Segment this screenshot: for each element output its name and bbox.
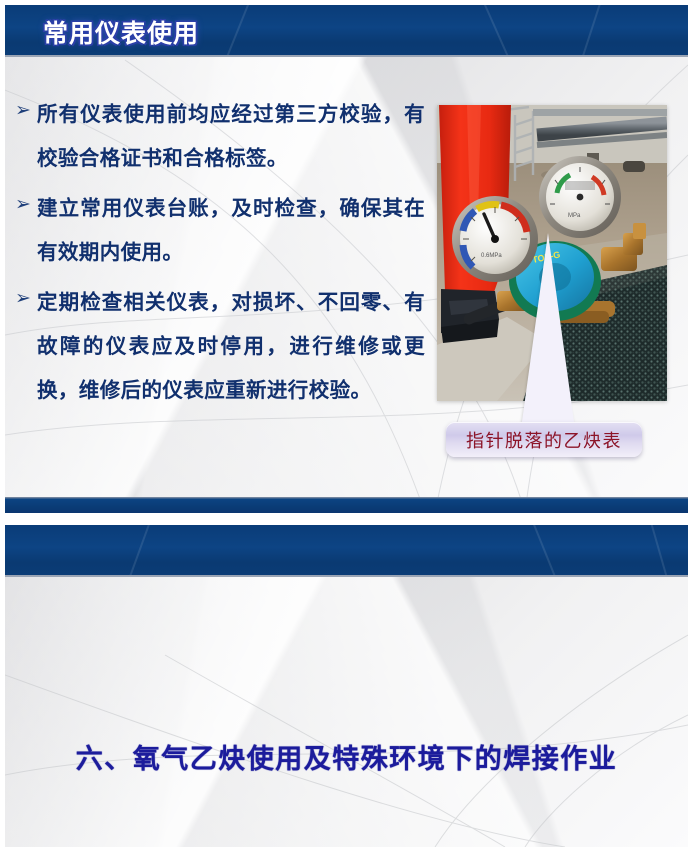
page-title: 常用仪表使用 (43, 14, 199, 50)
list-item-label: 所有仪表使用前均应经过第三方校验，有校验合格证书和合格标签。 (37, 93, 425, 181)
slide-header-band (5, 525, 688, 577)
header-streak (475, 5, 522, 57)
bullet-list: ➢ 所有仪表使用前均应经过第三方校验，有校验合格证书和合格标签。 ➢ 建立常用仪… (15, 93, 425, 419)
section-title: 六、氧气乙炔使用及特殊环境下的焊接作业 (5, 737, 688, 776)
header-streak (114, 525, 157, 577)
header-streak (214, 5, 257, 57)
callout-pointer (521, 233, 575, 429)
chevron-right-icon: ➢ (15, 93, 37, 129)
list-item: ➢ 定期检查相关仪表，对损坏、不回零、有故障的仪表应及时停用，进行维修或更换，维… (15, 281, 425, 413)
svg-text:0.6MPa: 0.6MPa (481, 253, 502, 259)
list-item-label: 建立常用仪表台账，及时检查，确保其在有效期内使用。 (37, 187, 425, 275)
header-streak (571, 5, 607, 57)
chevron-right-icon: ➢ (15, 187, 37, 223)
list-item: ➢ 所有仪表使用前均应经过第三方校验，有校验合格证书和合格标签。 (15, 93, 425, 181)
header-streak (645, 525, 680, 577)
slide-footer-bar (5, 497, 688, 513)
chevron-right-icon: ➢ (15, 281, 37, 317)
header-streak (525, 525, 572, 577)
slide-section-divider: 六、氧气乙炔使用及特殊环境下的焊接作业 (5, 525, 688, 847)
slide-header-band: 常用仪表使用 (5, 5, 688, 57)
photo-caption: 指针脱落的乙炔表 (446, 422, 642, 457)
photo-caption-label: 指针脱落的乙炔表 (466, 427, 622, 453)
list-item-label: 定期检查相关仪表，对损坏、不回零、有故障的仪表应及时停用，进行维修或更换，维修后… (37, 281, 425, 413)
list-item: ➢ 建立常用仪表台账，及时检查，确保其在有效期内使用。 (15, 187, 425, 275)
svg-text:MPa: MPa (568, 213, 581, 219)
slide-instrument-usage: 常用仪表使用 ➢ 所有仪表使用前均应经过第三方校验，有校验合格证书和合格标签。 … (5, 5, 688, 513)
